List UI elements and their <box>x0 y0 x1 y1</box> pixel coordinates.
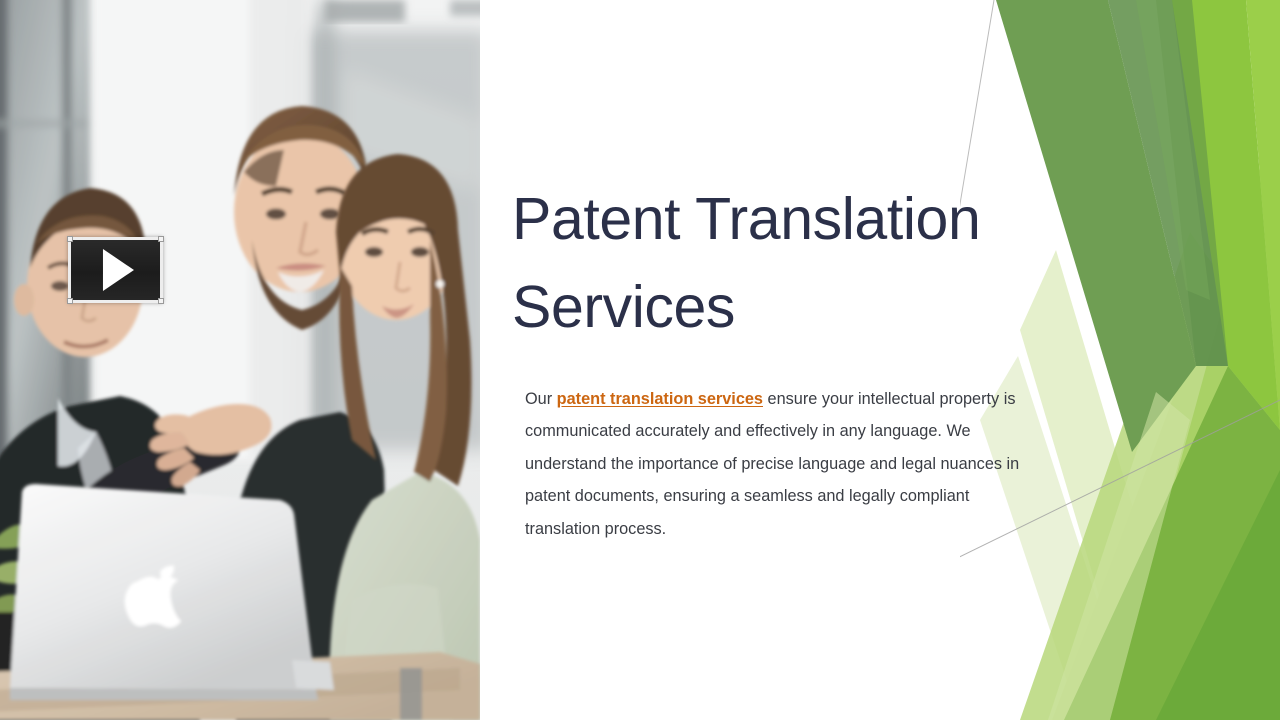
selection-handle-bottom-right[interactable] <box>158 298 164 304</box>
patent-translation-services-link[interactable]: patent translation services <box>557 390 763 408</box>
video-play-button[interactable] <box>68 237 163 303</box>
paragraph-lead: Our <box>525 390 557 408</box>
presentation-slide: Patent Translation Services Our patent t… <box>0 0 1280 720</box>
body-block: Our patent translation services ensure y… <box>525 383 1045 545</box>
office-team-photo-illustration <box>0 0 480 720</box>
body-paragraph: Our patent translation services ensure y… <box>525 383 1045 545</box>
selection-handle-top-right[interactable] <box>158 236 164 242</box>
green-polygon-decoration <box>960 0 1280 720</box>
selection-handle-top-left[interactable] <box>67 236 73 242</box>
content-panel: Patent Translation Services Our patent t… <box>480 0 1280 720</box>
selection-handle-bottom-left[interactable] <box>67 298 73 304</box>
hero-photo <box>0 0 480 720</box>
play-triangle-icon <box>102 249 133 291</box>
page-title: Patent Translation Services <box>512 175 1032 351</box>
title-block: Patent Translation Services <box>512 175 1032 351</box>
paragraph-rest: ensure your intellectual property is com… <box>525 390 1019 538</box>
